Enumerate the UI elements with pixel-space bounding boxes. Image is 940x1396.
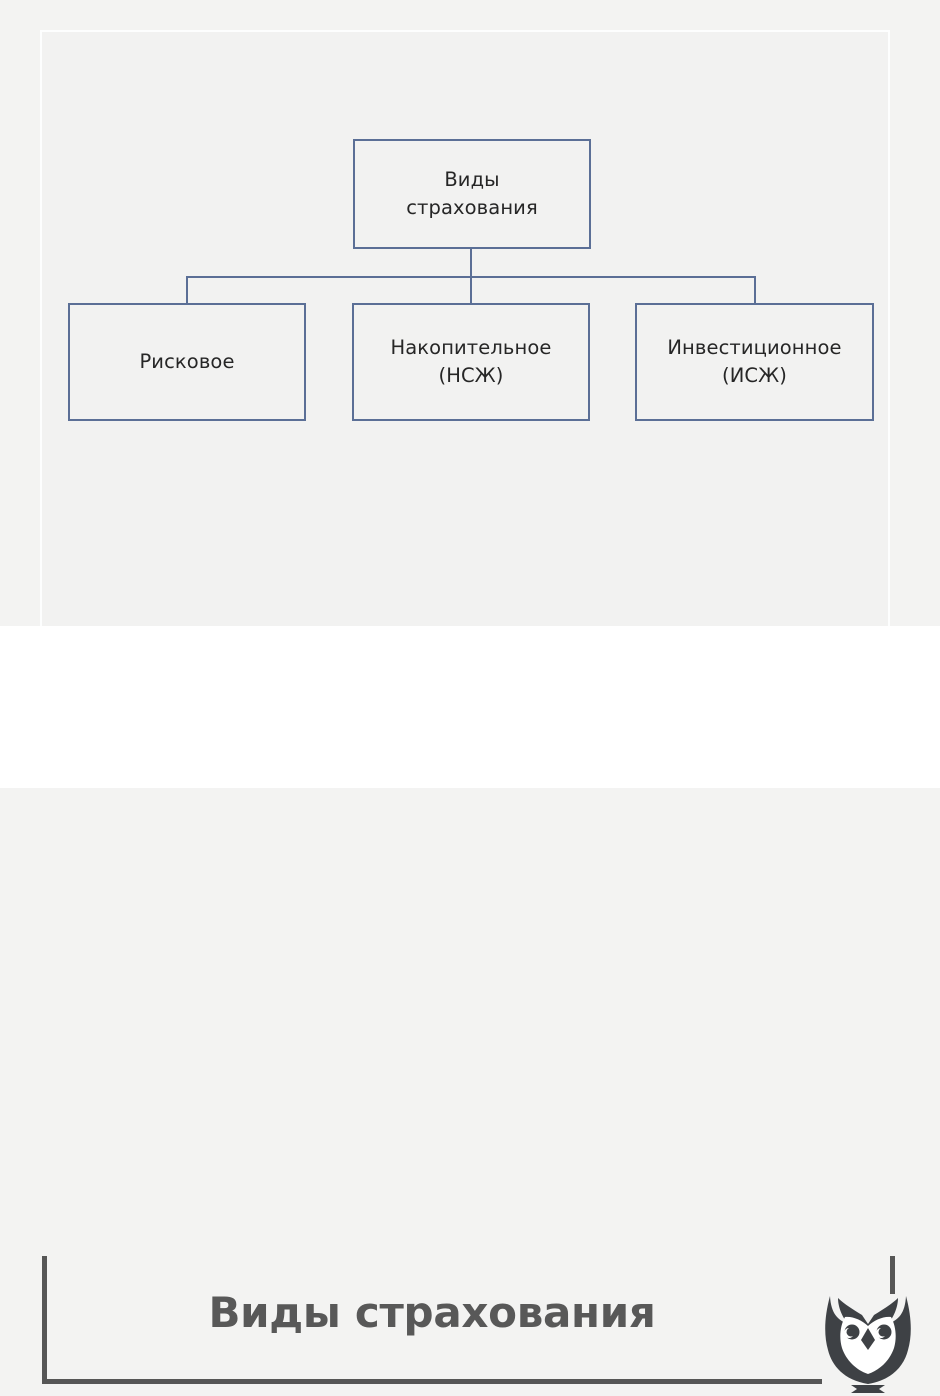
diagram-node-risk[interactable]: Рисковое xyxy=(68,303,306,421)
diagram-node-root[interactable]: Видыстрахования xyxy=(353,139,591,249)
caption-rule-bottom xyxy=(42,1379,822,1384)
diagram-node-isz-line1: Инвестиционное xyxy=(659,334,849,362)
connector-drop-nsz xyxy=(470,276,472,304)
diagram-node-risk-text: Рисковое xyxy=(123,348,250,376)
diagram-node-isz-line2: (ИСЖ) xyxy=(659,362,849,390)
connector-drop-risk xyxy=(186,276,188,304)
diagram-stage: Видыстрахования Рисковое Накопительное(Н… xyxy=(0,0,940,626)
caption-band: Виды страхования xyxy=(0,626,940,788)
diagram-node-nsz-text: Накопительное(НСЖ) xyxy=(374,334,567,389)
page-title: Виды страхования xyxy=(42,1288,822,1337)
connector-drop-isz xyxy=(754,276,756,304)
diagram-node-nsz-line1: Накопительное xyxy=(382,334,559,362)
diagram-node-root-text: Видыстрахования xyxy=(390,166,554,221)
connector-root-stem xyxy=(470,249,472,278)
diagram-node-risk-line1: Рисковое xyxy=(131,348,242,376)
diagram-node-root-line1: Виды xyxy=(398,166,546,194)
diagram-node-isz[interactable]: Инвестиционное(ИСЖ) xyxy=(635,303,874,421)
diagram-node-root-line2: страхования xyxy=(398,194,546,222)
diagram-node-nsz-line2: (НСЖ) xyxy=(382,362,559,390)
owl-icon xyxy=(818,1284,918,1396)
diagram-node-nsz[interactable]: Накопительное(НСЖ) xyxy=(352,303,590,421)
diagram-node-isz-text: Инвестиционное(ИСЖ) xyxy=(651,334,857,389)
